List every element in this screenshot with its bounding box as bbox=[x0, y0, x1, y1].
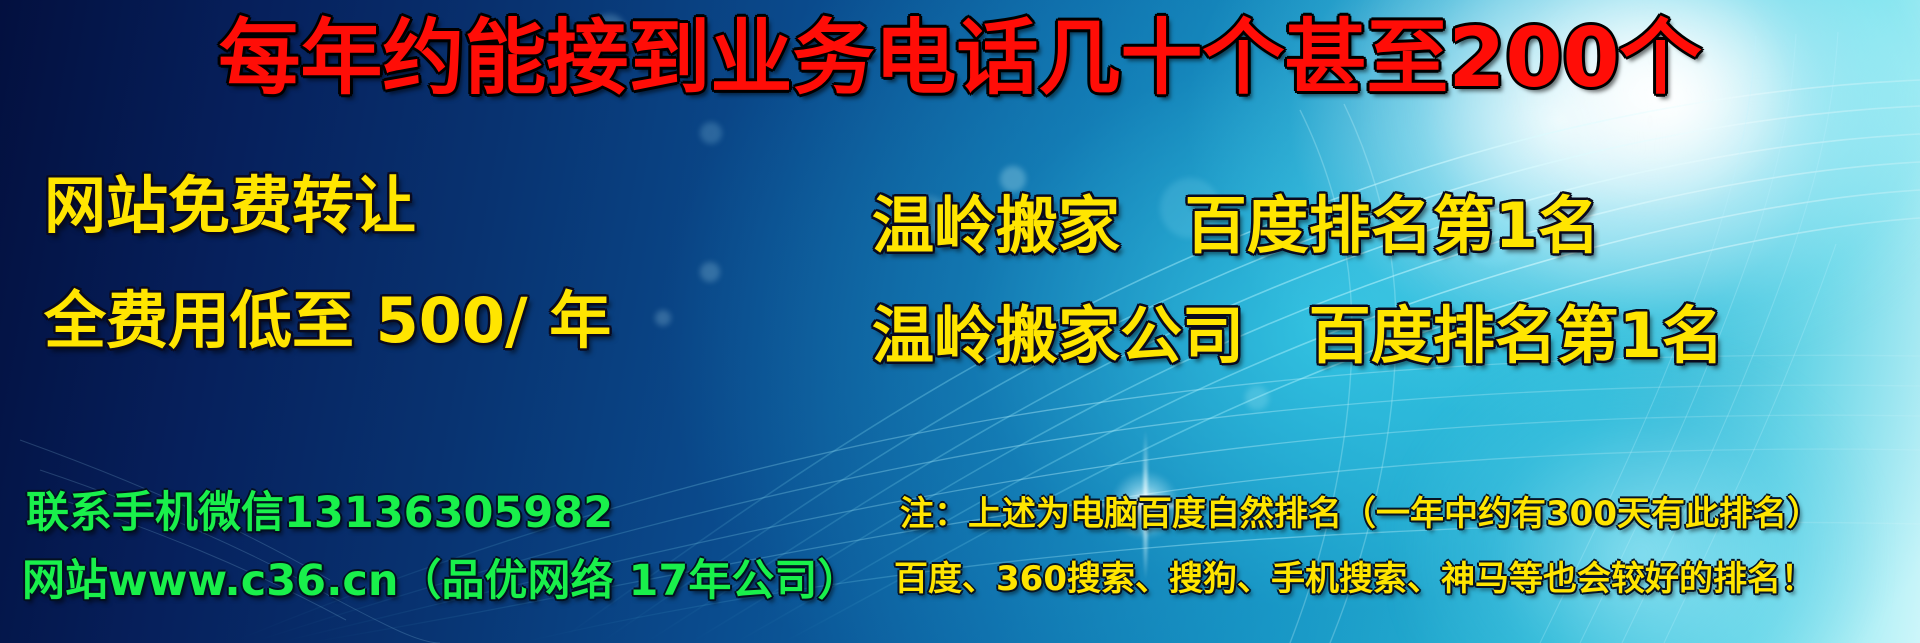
headline-text: 每年约能接到业务电话几十个甚至200个 bbox=[0, 18, 1920, 100]
bokeh-dot bbox=[700, 122, 722, 144]
note-line-2: 百度、360搜索、搜狗、手机搜索、神马等也会较好的排名！ bbox=[894, 562, 1815, 596]
bokeh-dot bbox=[700, 262, 720, 282]
offer-line-2: 全费用低至 500/ 年 bbox=[44, 290, 611, 352]
contact-website: 网站www.c36.cn（品优网络 17年公司） bbox=[22, 560, 860, 603]
note-line-1: 注：上述为电脑百度自然排名（一年中约有300天有此排名） bbox=[900, 497, 1821, 531]
bokeh-dot bbox=[655, 310, 671, 326]
ranking-line-2: 温岭搬家公司 百度排名第1名 bbox=[872, 305, 1724, 367]
contact-phone-wechat: 联系手机微信13136305982 bbox=[26, 492, 613, 535]
bokeh-dot bbox=[1245, 386, 1269, 410]
promotional-banner: 每年约能接到业务电话几十个甚至200个 网站免费转让 全费用低至 500/ 年 … bbox=[0, 0, 1920, 643]
ranking-line-1: 温岭搬家 百度排名第1名 bbox=[872, 195, 1600, 257]
offer-line-1: 网站免费转让 bbox=[44, 175, 416, 237]
